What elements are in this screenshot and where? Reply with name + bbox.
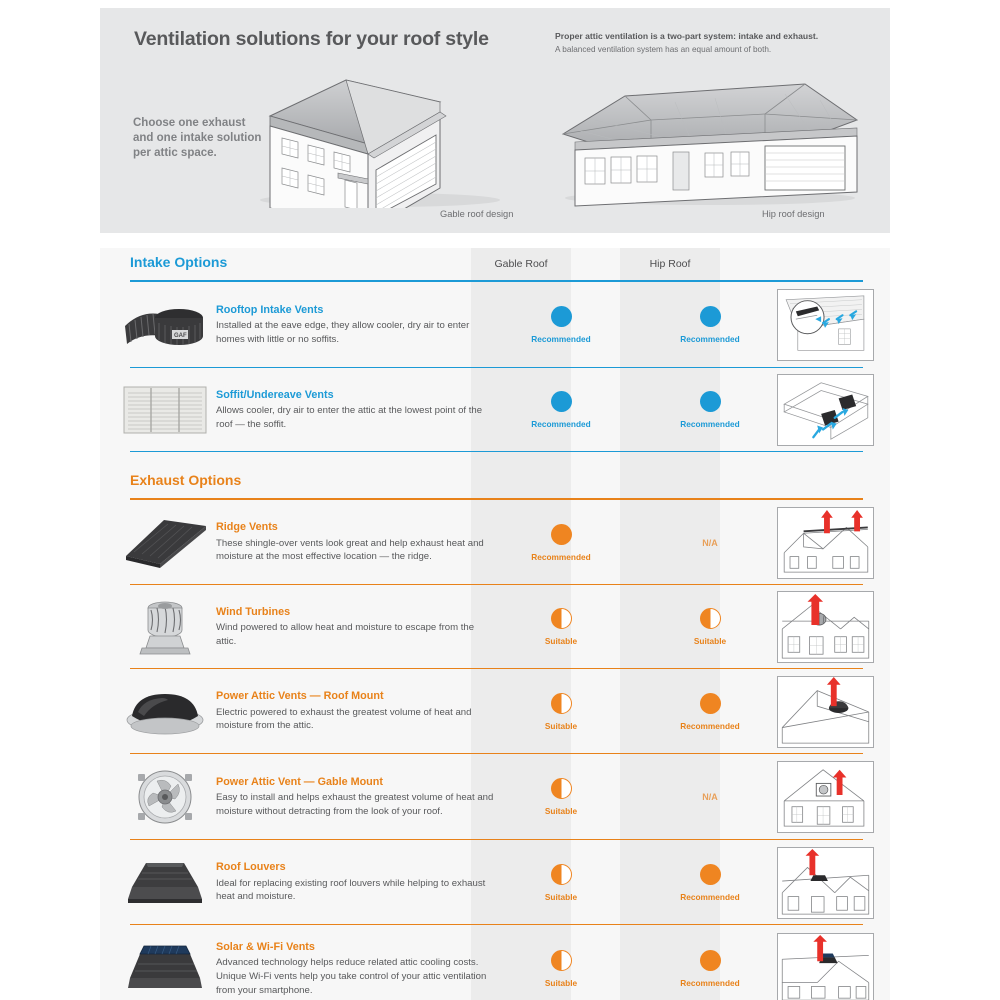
status-cell-gable: Recommended	[511, 282, 611, 368]
status-cell-hip: Recommended	[660, 368, 760, 452]
product-description: Easy to install and helps exhaust the gr…	[216, 791, 497, 818]
status-label-na: N/A	[702, 792, 718, 802]
caption-hip-roof: Hip roof design	[762, 209, 825, 219]
product-image-cell	[100, 500, 210, 585]
product-name: Roof Louvers	[216, 861, 497, 874]
status-dot-suitable	[700, 608, 721, 629]
status-cell-gable: Recommended	[511, 368, 611, 452]
status-dot-recommended	[551, 391, 572, 412]
column-header-gable: Gable Roof	[471, 258, 571, 270]
product-image-cell	[100, 840, 210, 925]
status-label: Suitable	[545, 721, 577, 731]
diagram-cell	[760, 669, 890, 754]
product-description: Installed at the eave edge, they allow c…	[216, 319, 497, 346]
status-dot-suitable	[551, 608, 572, 629]
section-header-intake: Intake Options Gable Roof Hip Roof	[100, 248, 890, 282]
table-row: Ridge Vents These shingle-over vents loo…	[100, 500, 890, 585]
product-description: These shingle-over vents look great and …	[216, 537, 497, 564]
column-gap	[611, 282, 660, 368]
table-row: Solar & Wi-Fi Vents Advanced technology …	[100, 925, 890, 1000]
wind-turbine-icon	[130, 596, 200, 658]
soffit-louver-panel-icon	[122, 383, 208, 437]
status-cell-hip: Recommended	[660, 925, 760, 1000]
status-label: Recommended	[531, 334, 590, 344]
product-description: Ideal for replacing existing roof louver…	[216, 877, 497, 904]
status-label: Suitable	[545, 636, 577, 646]
status-label: Recommended	[531, 552, 590, 562]
product-text-cell: Roof Louvers Ideal for replacing existin…	[210, 840, 511, 925]
product-image-cell	[100, 925, 210, 1000]
gable-mount-power-vent-diagram	[777, 761, 874, 833]
infographic-page: Ventilation solutions for your roof styl…	[0, 0, 1000, 1000]
status-cell-hip: Recommended	[660, 840, 760, 925]
caption-gable-roof: Gable roof design	[440, 209, 513, 219]
gable-house-illustration	[250, 58, 510, 208]
status-label: Suitable	[694, 636, 726, 646]
status-cell-gable: Suitable	[511, 925, 611, 1000]
table-row: Power Attic Vents — Roof Mount Electric …	[100, 669, 890, 754]
column-header-hip: Hip Roof	[620, 258, 720, 270]
product-name: Soffit/Undereave Vents	[216, 389, 497, 402]
status-dot-recommended	[551, 524, 572, 545]
section-title-exhaust: Exhaust Options	[130, 472, 241, 488]
table-row: Roof Louvers Ideal for replacing existin…	[100, 840, 890, 925]
product-description: Advanced technology helps reduce related…	[216, 956, 497, 997]
status-label: Recommended	[680, 419, 739, 429]
diagram-cell	[760, 754, 890, 840]
table-row: Power Attic Vent — Gable Mount Easy to i…	[100, 754, 890, 840]
product-text-cell: Soffit/Undereave Vents Allows cooler, dr…	[210, 368, 511, 452]
product-description: Electric powered to exhaust the greatest…	[216, 706, 497, 733]
product-description: Wind powered to allow heat and moisture …	[216, 621, 497, 648]
table-row: Wind Turbines Wind powered to allow heat…	[100, 585, 890, 669]
product-name: Solar & Wi-Fi Vents	[216, 941, 497, 954]
diagram-cell	[760, 500, 890, 585]
product-image-cell: GAF	[100, 282, 210, 368]
section-spacer	[100, 452, 890, 466]
product-image-cell	[100, 368, 210, 452]
product-name: Wind Turbines	[216, 606, 497, 619]
status-label: Recommended	[680, 334, 739, 344]
product-name: Power Attic Vent — Gable Mount	[216, 776, 497, 789]
column-gap	[611, 925, 660, 1000]
choose-instruction: Choose one exhaust and one intake soluti…	[133, 116, 268, 162]
status-cell-hip: Recommended	[660, 282, 760, 368]
product-name: Rooftop Intake Vents	[216, 304, 497, 317]
section-title-intake: Intake Options	[130, 254, 227, 270]
power-attic-vent-roof-mount-icon	[122, 686, 208, 738]
product-image-cell	[100, 669, 210, 754]
status-cell-gable: Recommended	[511, 500, 611, 585]
table-row: GAF Rooftop Intake Vents Installed at th…	[100, 282, 890, 368]
rooftop-intake-vent-roll-icon: GAF	[121, 296, 209, 354]
product-image-cell	[100, 754, 210, 840]
status-cell-hip: N/A	[660, 754, 760, 840]
hero-note-strong: Proper attic ventilation is a two-part s…	[555, 30, 875, 42]
column-gap	[611, 500, 660, 585]
diagram-cell	[760, 368, 890, 452]
section-header-exhaust: Exhaust Options	[100, 466, 890, 500]
product-text-cell: Wind Turbines Wind powered to allow heat…	[210, 585, 511, 669]
product-text-cell: Solar & Wi-Fi Vents Advanced technology …	[210, 925, 511, 1000]
diagram-cell	[760, 282, 890, 368]
status-dot-suitable	[551, 864, 572, 885]
status-dot-suitable	[551, 693, 572, 714]
product-text-cell: Power Attic Vent — Gable Mount Easy to i…	[210, 754, 511, 840]
row-separator	[130, 451, 863, 452]
roof-mount-power-vent-diagram	[777, 676, 874, 748]
status-dot-suitable	[551, 950, 572, 971]
roof-louver-icon	[122, 855, 208, 911]
page-title: Ventilation solutions for your roof styl…	[134, 28, 489, 51]
solar-wifi-vent-icon	[124, 940, 206, 998]
diagram-cell	[760, 840, 890, 925]
status-label: Recommended	[680, 721, 739, 731]
status-cell-hip: Recommended	[660, 669, 760, 754]
product-text-cell: Rooftop Intake Vents Installed at the ea…	[210, 282, 511, 368]
product-text-cell: Ridge Vents These shingle-over vents loo…	[210, 500, 511, 585]
status-cell-gable: Suitable	[511, 585, 611, 669]
status-label-na: N/A	[702, 538, 718, 548]
product-image-cell	[100, 585, 210, 669]
turbine-exhaust-airflow-diagram	[777, 591, 874, 663]
status-dot-recommended	[700, 391, 721, 412]
ridge-vent-strip-icon	[120, 514, 210, 572]
status-label: Recommended	[680, 892, 739, 902]
product-name: Ridge Vents	[216, 521, 497, 534]
status-cell-hip: Suitable	[660, 585, 760, 669]
status-label: Suitable	[545, 806, 577, 816]
status-cell-hip: N/A	[660, 500, 760, 585]
status-cell-gable: Suitable	[511, 754, 611, 840]
diagram-cell	[760, 925, 890, 1000]
status-dot-recommended	[700, 306, 721, 327]
solar-vent-exhaust-diagram	[777, 933, 874, 1000]
ridge-exhaust-airflow-diagram	[777, 507, 874, 579]
status-label: Suitable	[545, 978, 577, 988]
eave-intake-airflow-diagram	[777, 289, 874, 361]
status-label: Recommended	[531, 419, 590, 429]
status-dot-recommended	[551, 306, 572, 327]
table-row: Soffit/Undereave Vents Allows cooler, dr…	[100, 368, 890, 452]
options-table: Intake Options Gable Roof Hip Roof	[100, 248, 890, 1000]
status-dot-recommended	[700, 693, 721, 714]
hip-house-illustration	[555, 58, 865, 208]
status-label: Suitable	[545, 892, 577, 902]
undereave-intake-airflow-diagram	[777, 374, 874, 446]
diagram-cell	[760, 585, 890, 669]
status-dot-recommended	[700, 864, 721, 885]
hero-note-sub: A balanced ventilation system has an equ…	[555, 44, 875, 56]
svg-text:GAF: GAF	[174, 333, 187, 339]
product-text-cell: Power Attic Vents — Roof Mount Electric …	[210, 669, 511, 754]
status-label: Recommended	[680, 978, 739, 988]
options-table-panel: Intake Options Gable Roof Hip Roof	[100, 248, 890, 1000]
product-name: Power Attic Vents — Roof Mount	[216, 690, 497, 703]
column-gap	[611, 669, 660, 754]
hero-note: Proper attic ventilation is a two-part s…	[555, 30, 875, 57]
product-description: Allows cooler, dry air to enter the atti…	[216, 404, 497, 431]
power-attic-vent-gable-mount-icon	[130, 766, 200, 828]
status-cell-gable: Suitable	[511, 669, 611, 754]
status-dot-suitable	[551, 778, 572, 799]
column-gap	[611, 840, 660, 925]
roof-louver-exhaust-diagram	[777, 847, 874, 919]
status-cell-gable: Suitable	[511, 840, 611, 925]
status-dot-recommended	[700, 950, 721, 971]
column-gap	[611, 585, 660, 669]
column-gap	[611, 754, 660, 840]
hero-panel: Ventilation solutions for your roof styl…	[100, 8, 890, 233]
column-gap	[611, 368, 660, 452]
